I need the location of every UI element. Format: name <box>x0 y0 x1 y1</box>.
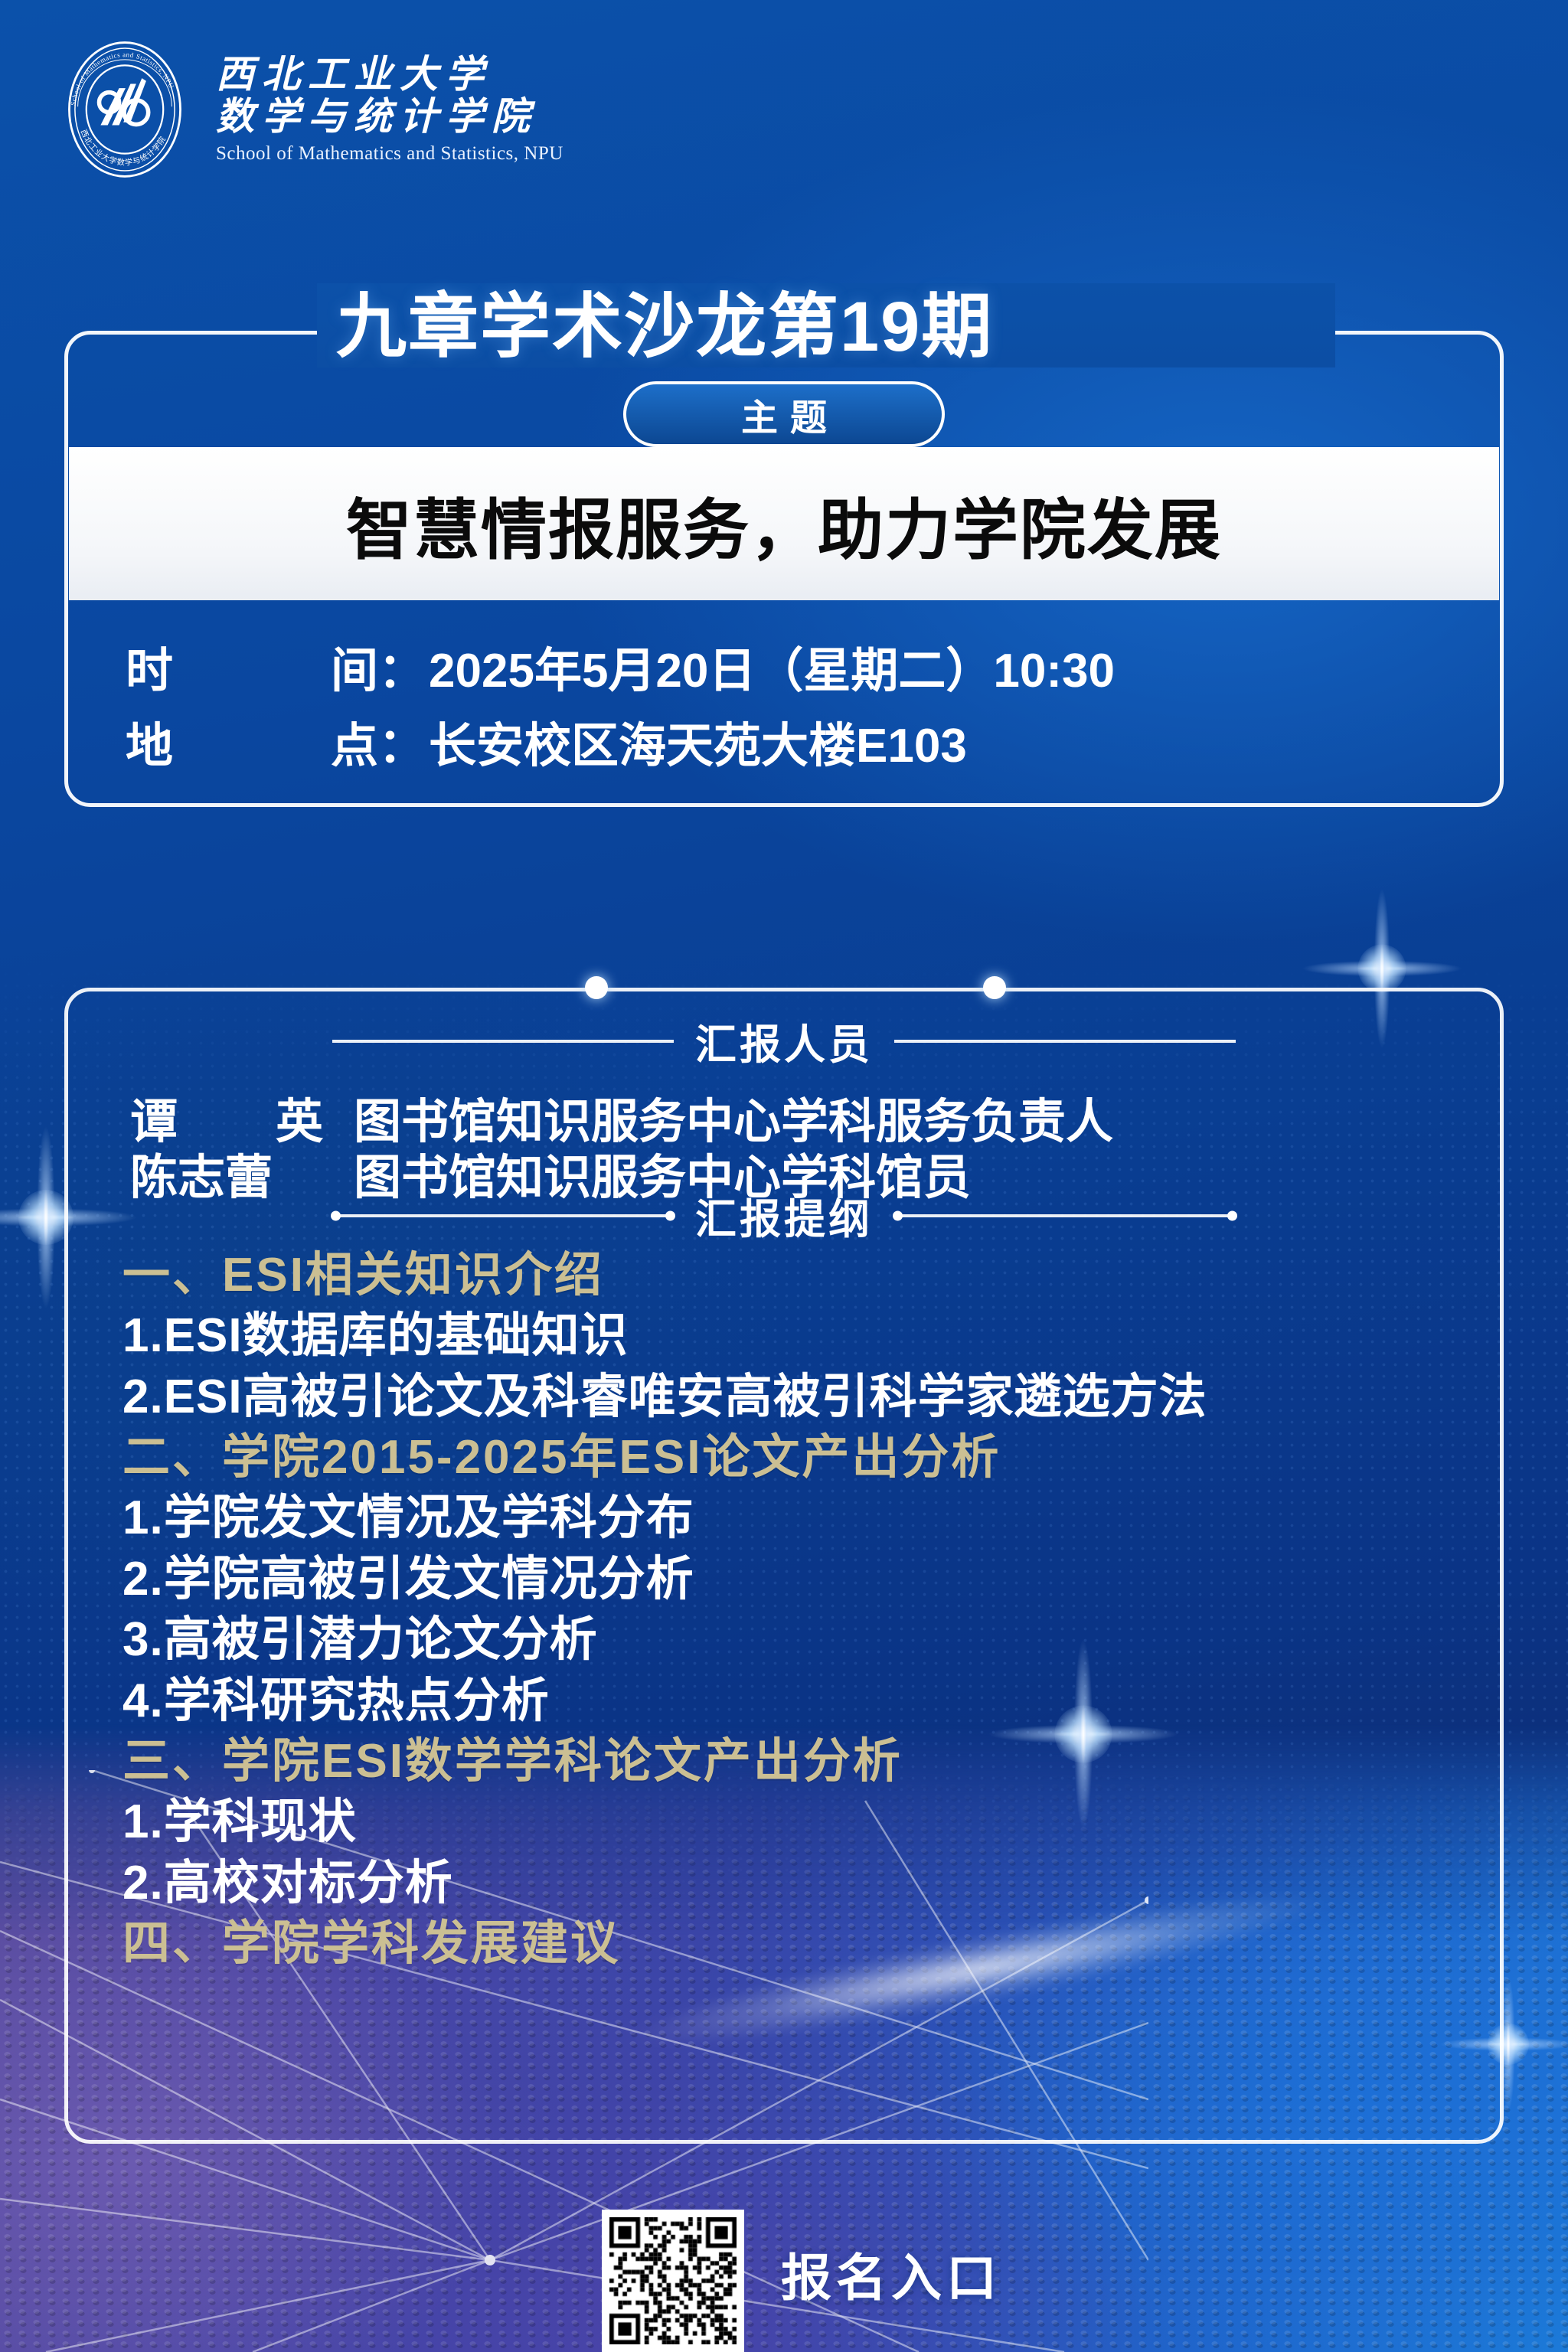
speaker-role: 图书馆知识服务中心学科服务负责人 <box>354 1094 1113 1150</box>
outline-list: 一、ESI相关知识介绍1.ESI数据库的基础知识2.ESI高被引论文及科睿唯安高… <box>122 1245 1473 1974</box>
npu-math-school-seal-icon: School of Mathematics and Statistics, NP… <box>54 38 196 181</box>
event-time-row: 时间 ： 2025年5月20日（星期二）10:30 <box>126 632 1504 701</box>
event-place-row: 地点 ： 长安校区海天苑大楼E103 <box>126 707 1504 776</box>
outline-heading: 汇报提纲 <box>64 1185 1504 1246</box>
outline-sub-item: 3.高被引潜力论文分析 <box>122 1609 1473 1670</box>
event-place-label: 地点 <box>126 707 378 776</box>
org-name-en: School of Mathematics and Statistics, NP… <box>216 143 563 165</box>
svg-text:西北工业大学数学与统计学院: 西北工业大学数学与统计学院 <box>79 129 168 168</box>
heading-rule-left <box>332 1214 674 1217</box>
event-header-card: 九章学术沙龙第19期 主题 智慧情报服务，助力学院发展 时间 ： 2025年5月… <box>64 331 1504 807</box>
poster-root: School of Mathematics and Statistics, NP… <box>0 0 1568 2352</box>
outline-section-heading: 一、ESI相关知识介绍 <box>122 1245 1473 1305</box>
event-time-colon: ： <box>378 632 426 701</box>
outline-sub-item: 2.学院高被引发文情况分析 <box>122 1549 1473 1609</box>
signup-label: 报名入口 <box>781 2237 1001 2311</box>
event-time-value: 2025年5月20日（星期二）10:30 <box>429 632 1115 701</box>
frame-dot-icon <box>585 976 608 999</box>
event-place-colon: ： <box>378 707 426 776</box>
event-place-value: 长安校区海天苑大楼E103 <box>429 707 967 776</box>
list-item: 谭英 图书馆知识服务中心学科服务负责人 <box>130 1094 1504 1150</box>
speakers-heading-label: 汇报人员 <box>695 1011 873 1071</box>
event-details: 时间 ： 2025年5月20日（星期二）10:30 地点 ： 长安校区海天苑大楼… <box>64 608 1504 799</box>
page-title: 九章学术沙龙第19期 <box>336 269 993 371</box>
qr-code-icon <box>609 2217 737 2344</box>
theme-tab-label: 主题 <box>729 387 839 441</box>
heading-rule-right <box>894 1214 1236 1217</box>
org-name-cn-line2: 数学与统计学院 <box>216 96 563 136</box>
event-time-label: 时间 <box>126 632 378 701</box>
program-card: 汇报人员 谭英 图书馆知识服务中心学科服务负责人 陈志蕾 图书馆知识服务中心学科… <box>64 988 1504 2144</box>
svg-text:School of Mathematics and Stat: School of Mathematics and Statistics, NP… <box>69 51 175 106</box>
outline-sub-item: 1.学院发文情况及学科分布 <box>122 1488 1473 1548</box>
outline-heading-label: 汇报提纲 <box>695 1185 873 1246</box>
theme-tab: 主题 <box>623 381 945 447</box>
outline-sub-item: 2.高校对标分析 <box>122 1853 1473 1913</box>
org-name-cn-line1: 西北工业大学 <box>216 54 563 93</box>
frame-dot-icon <box>983 976 1006 999</box>
heading-rule-left <box>332 1040 674 1043</box>
theme-title-band: 智慧情报服务，助力学院发展 <box>69 447 1499 600</box>
outline-sub-item: 2.ESI高被引论文及科睿唯安高被引科学家遴选方法 <box>122 1367 1473 1427</box>
speaker-name: 谭英 <box>130 1094 354 1150</box>
outline-section-heading: 三、学院ESI数学学科论文产出分析 <box>122 1731 1473 1792</box>
speakers-heading: 汇报人员 <box>332 1011 1236 1071</box>
outline-sub-item: 1.学科现状 <box>122 1792 1473 1852</box>
speakers-section: 汇报人员 谭英 图书馆知识服务中心学科服务负责人 陈志蕾 图书馆知识服务中心学科… <box>64 1011 1504 1206</box>
outline-sub-item: 4.学科研究热点分析 <box>122 1671 1473 1731</box>
outline-section-heading: 四、学院学科发展建议 <box>122 1913 1473 1974</box>
signup-qr-code[interactable] <box>602 2210 744 2352</box>
brand-header: School of Mathematics and Statistics, NP… <box>54 38 563 181</box>
heading-rule-right <box>894 1040 1236 1043</box>
outline-sub-item: 1.ESI数据库的基础知识 <box>122 1305 1473 1366</box>
theme-title: 智慧情报服务，助力学院发展 <box>346 476 1222 572</box>
outline-section-heading: 二、学院2015-2025年ESI论文产出分析 <box>122 1427 1473 1488</box>
